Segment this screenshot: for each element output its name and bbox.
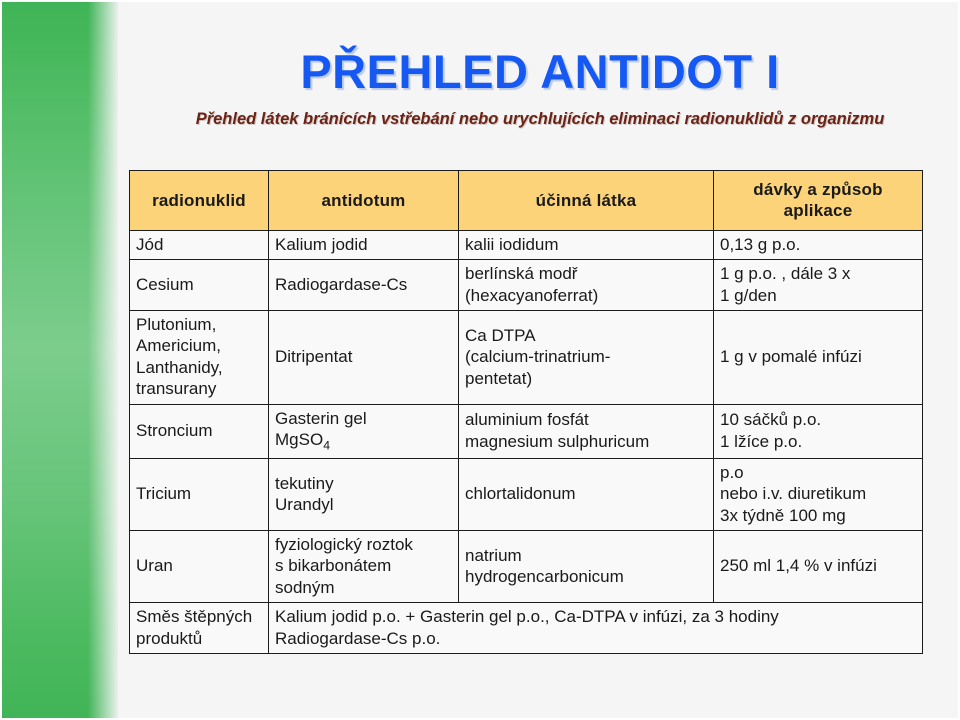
cell-ucinna-latka: Ca DTPA (calcium-trinatrium- pentetat) (459, 311, 714, 405)
cell-line: MgSO4 (275, 429, 452, 454)
cell-ucinna-latka: chlortalidonum (459, 458, 714, 530)
cell-antidotum: Radiogardase-Cs (269, 260, 459, 311)
cell-line: sodným (275, 577, 452, 598)
cell-davky: 250 ml 1,4 % v infúzi (714, 531, 923, 603)
cell-line: natrium (465, 545, 707, 566)
cell-line: Směs štěpných (136, 606, 262, 627)
cell-line: produktů (136, 628, 262, 649)
cell-line: aluminium fosfát (465, 409, 707, 430)
cell-antidotum: Gasterin gel MgSO4 (269, 404, 459, 458)
cell-line: pentetat) (465, 368, 707, 389)
cell-line: (calcium-trinatrium- (465, 346, 707, 367)
table-row: Směs štěpných produktů Kalium jodid p.o.… (130, 603, 923, 654)
cell-line: hydrogencarbonicum (465, 566, 707, 587)
cell-radionuklid: Uran (130, 531, 269, 603)
cell-davky: 1 g v pomalé infúzi (714, 311, 923, 405)
cell-radionuklid: Plutonium, Americium, Lanthanidy, transu… (130, 311, 269, 405)
cell-line: Kalium jodid p.o. + Gasterin gel p.o., C… (275, 606, 916, 627)
green-band-fade-overlay (88, 2, 120, 720)
cell-davky: 1 g p.o. , dále 3 x 1 g/den (714, 260, 923, 311)
cell-line: 1 g/den (720, 285, 916, 306)
cell-line: Gasterin gel (275, 408, 452, 429)
cell-line: fyziologický roztok (275, 534, 452, 555)
cell-radionuklid: Stroncium (130, 404, 269, 458)
cell-davky: p.o nebo i.v. diuretikum 3x týdně 100 mg (714, 458, 923, 530)
cell-ucinna-latka: aluminium fosfát magnesium sulphuricum (459, 404, 714, 458)
antidote-table: radionuklid antidotum účinná látka dávky… (129, 170, 923, 654)
page-subtitle: Přehled látek bránících vstřebání nebo u… (118, 110, 960, 129)
cell-line: tekutiny (275, 473, 452, 494)
cell-davky: 0,13 g p.o. (714, 230, 923, 259)
table-header: radionuklid antidotum účinná látka dávky… (130, 171, 923, 231)
cell-ucinna-latka: natrium hydrogencarbonicum (459, 531, 714, 603)
formula-base: MgSO (275, 430, 323, 449)
cell-ucinna-latka: berlínská modř (hexacyanoferrat) (459, 260, 714, 311)
cell-antidotum: Kalium jodid (269, 230, 459, 259)
table-row: Plutonium, Americium, Lanthanidy, transu… (130, 311, 923, 405)
cell-combined-regimen: Kalium jodid p.o. + Gasterin gel p.o., C… (269, 603, 923, 654)
column-header-antidotum: antidotum (269, 171, 459, 231)
cell-antidotum: fyziologický roztok s bikarbonátem sodný… (269, 531, 459, 603)
table-row: Uran fyziologický roztok s bikarbonátem … (130, 531, 923, 603)
cell-line: Ca DTPA (465, 325, 707, 346)
table-body: Jód Kalium jodid kalii iodidum 0,13 g p.… (130, 230, 923, 653)
table-header-row: radionuklid antidotum účinná látka dávky… (130, 171, 923, 231)
cell-ucinna-latka: kalii iodidum (459, 230, 714, 259)
cell-line: s bikarbonátem (275, 555, 452, 576)
cell-line: transurany (136, 378, 262, 399)
column-header-davky-zpusob-aplikace: dávky a způsob aplikace (714, 171, 923, 231)
cell-radionuklid: Tricium (130, 458, 269, 530)
cell-line: berlínská modř (465, 263, 707, 284)
cell-line: (hexacyanoferrat) (465, 285, 707, 306)
cell-line: 1 lžíce p.o. (720, 431, 916, 452)
column-header-ucinna-latka: účinná látka (459, 171, 714, 231)
cell-davky: 10 sáčků p.o. 1 lžíce p.o. (714, 404, 923, 458)
cell-line: p.o (720, 462, 916, 483)
cell-line: Lanthanidy, (136, 357, 262, 378)
cell-line: Urandyl (275, 494, 452, 515)
table-row: Stroncium Gasterin gel MgSO4 aluminium f… (130, 404, 923, 458)
cell-line: Plutonium, (136, 314, 262, 335)
page-title: PŘEHLED ANTIDOT I (118, 47, 960, 96)
cell-radionuklid: Směs štěpných produktů (130, 603, 269, 654)
cell-radionuklid: Jód (130, 230, 269, 259)
table-row: Tricium tekutiny Urandyl chlortalidonum … (130, 458, 923, 530)
cell-line: Americium, (136, 335, 262, 356)
formula-subscript: 4 (323, 438, 330, 452)
table-row: Cesium Radiogardase-Cs berlínská modř (h… (130, 260, 923, 311)
cell-radionuklid: Cesium (130, 260, 269, 311)
slide-canvas: PŘEHLED ANTIDOT I Přehled látek bránícíc… (0, 0, 960, 720)
cell-antidotum: tekutiny Urandyl (269, 458, 459, 530)
cell-line: 10 sáčků p.o. (720, 409, 916, 430)
cell-antidotum: Ditripentat (269, 311, 459, 405)
cell-line: 3x týdně 100 mg (720, 505, 916, 526)
cell-line: 1 g p.o. , dále 3 x (720, 263, 916, 284)
table-row: Jód Kalium jodid kalii iodidum 0,13 g p.… (130, 230, 923, 259)
cell-line: Radiogardase-Cs p.o. (275, 628, 916, 649)
cell-line: magnesium sulphuricum (465, 431, 707, 452)
column-header-radionuklid: radionuklid (130, 171, 269, 231)
cell-line: nebo i.v. diuretikum (720, 483, 916, 504)
